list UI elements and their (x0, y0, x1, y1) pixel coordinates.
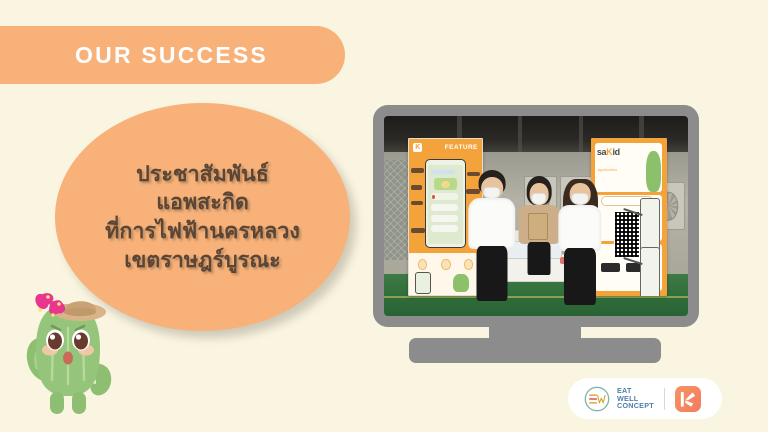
person-held-certificate (528, 213, 548, 239)
phone-screen (428, 165, 464, 243)
person-pants (528, 242, 551, 275)
person-shirt (468, 198, 516, 249)
feature-icon (441, 259, 450, 270)
sakid-qr-code (614, 211, 640, 258)
monitor-stand-base (409, 338, 661, 363)
photo-ceiling-bar (579, 116, 584, 156)
logo-line-concept: CONCEPT (617, 402, 654, 410)
logo-divider (664, 388, 665, 410)
person-pants (564, 248, 596, 305)
left-banner-callout (411, 168, 424, 173)
sakid-brand-subtitle: Application (598, 168, 618, 172)
right-banner-phone-bottom (640, 247, 660, 296)
eat-well-concept-wordmark: EAT WELL CONCEPT (617, 387, 654, 410)
section-title-banner: OUR SUCCESS (0, 26, 345, 84)
photo-person-right (554, 176, 606, 306)
left-banner-callout (411, 228, 425, 233)
sakid-brand-wordmark: saKid (597, 147, 620, 157)
brand-logo-lockup: EAT WELL CONCEPT (568, 378, 722, 419)
photo-ceiling-bar (518, 116, 523, 156)
sakid-cactus-icon (646, 151, 661, 192)
cactus-mascot-icon (8, 276, 128, 426)
photo-person-left (466, 170, 518, 304)
left-banner-phone-mockup (425, 159, 466, 248)
photo-floor-line (384, 296, 688, 298)
eat-well-concept-mark-icon (584, 386, 610, 412)
headline-line-1: ประชาสัมพันธ์ (136, 160, 269, 189)
headline-line-3: ที่การไฟฟ้านครหลวง (105, 217, 300, 246)
person-face-mask (572, 193, 589, 205)
sakid-k-app-icon (675, 386, 701, 412)
headline-line-2: แอพสะกิด (156, 188, 249, 217)
monitor-frame: K FEATURE (373, 105, 699, 327)
left-banner-title: FEATURE (445, 144, 478, 151)
left-banner-logo-letter: K (413, 143, 422, 152)
monitor-screen: K FEATURE (384, 116, 688, 316)
person-shirt (558, 205, 601, 252)
section-title-label: OUR SUCCESS (47, 42, 268, 69)
left-banner-mini-phone (415, 272, 431, 294)
person-pants (476, 246, 507, 301)
left-banner-callout (411, 201, 423, 206)
left-banner-callout (411, 185, 423, 190)
left-banner-header: K FEATURE (409, 139, 481, 156)
headline-line-4: เขตราษฎร์บูรณะ (124, 246, 280, 275)
booth-photo: K FEATURE (384, 116, 688, 316)
feature-icon (418, 259, 427, 270)
